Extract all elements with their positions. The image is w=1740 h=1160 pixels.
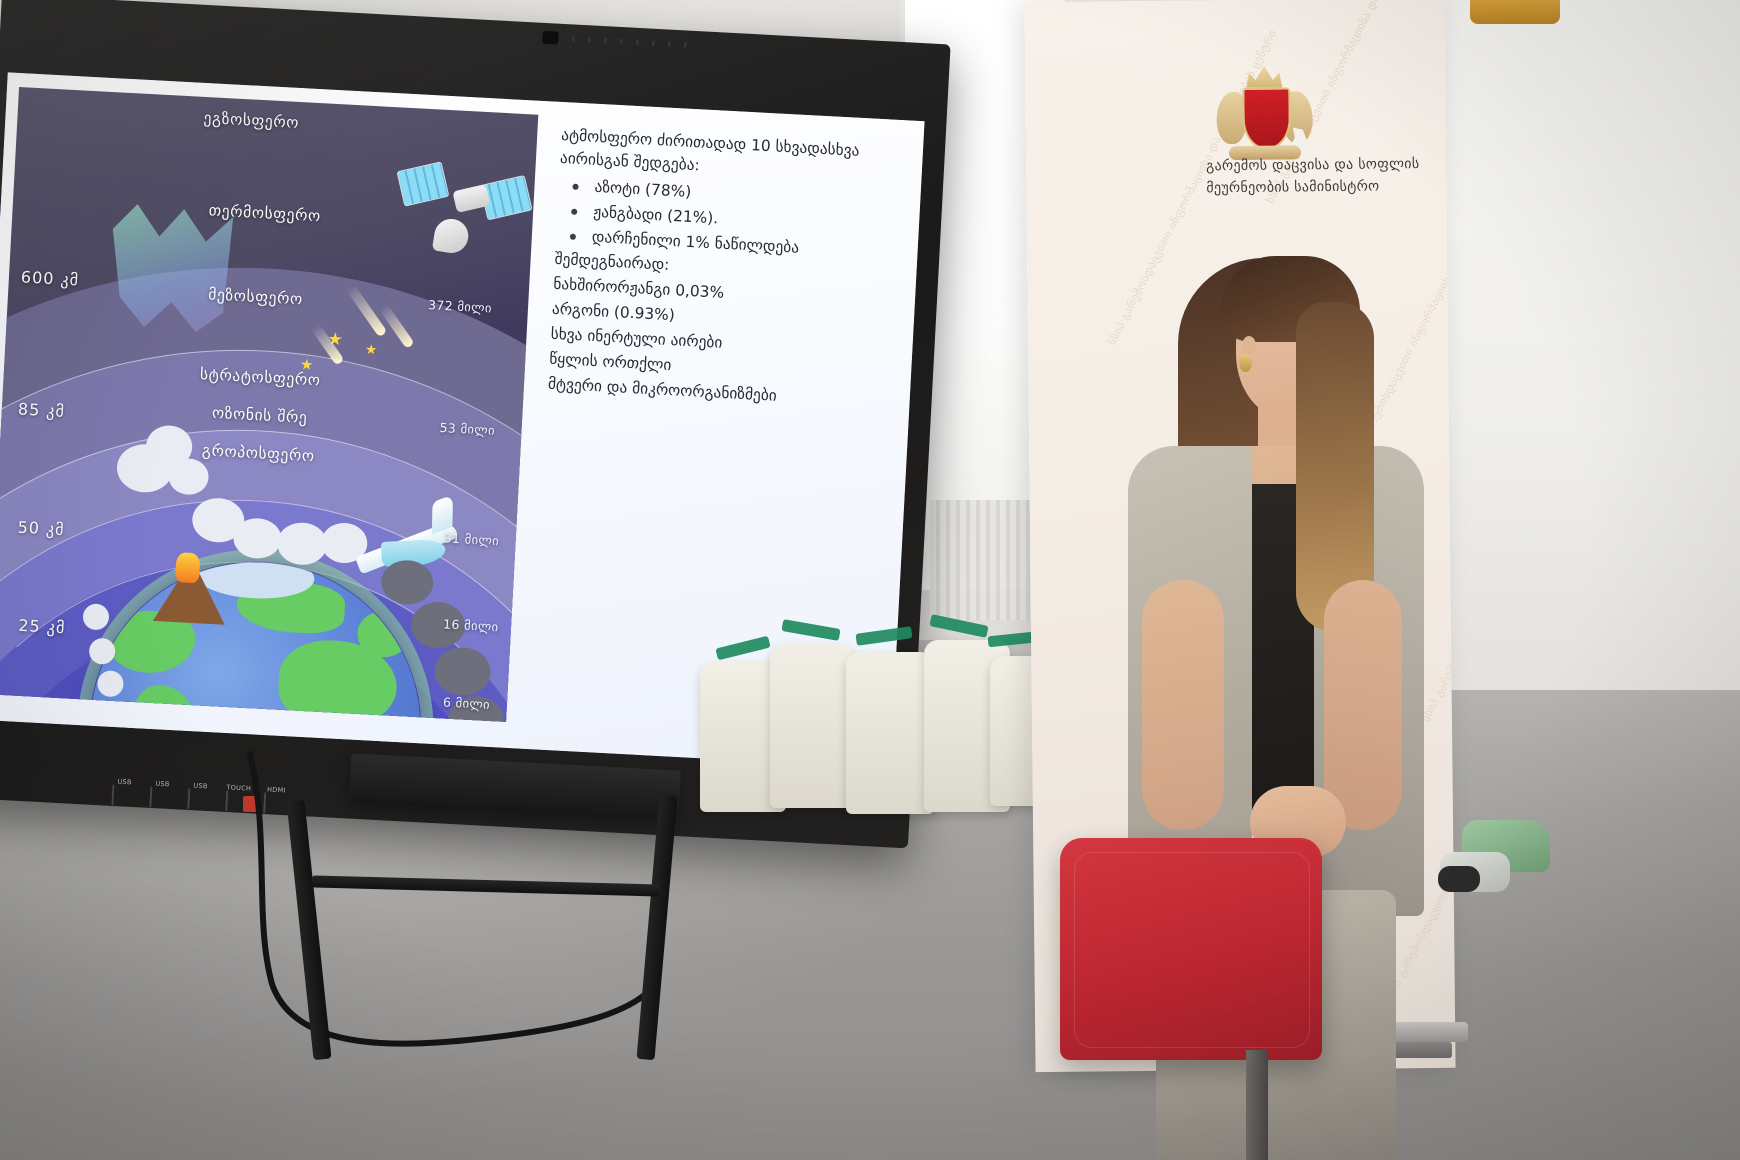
port-usb-3[interactable]: USB: [187, 781, 212, 809]
mile-label-31: 31 მილი: [443, 530, 499, 548]
port-socket: [187, 788, 190, 809]
crown-icon: [1246, 64, 1282, 88]
chair-post: [1246, 1050, 1268, 1160]
altitude-label-600km: 600 კმ: [20, 267, 79, 289]
port-label: USB: [188, 781, 212, 790]
earring-icon: [1239, 354, 1252, 372]
presenter-ear: [1242, 336, 1256, 356]
atmosphere-diagram: ეგზოსფერო თერმოსფერო მეზოსფერო სტრატოსფე…: [0, 87, 538, 722]
port-usb-2[interactable]: USB: [149, 779, 174, 807]
port-label: HDMI: [264, 785, 288, 794]
altitude-label-85km: 85 კმ: [17, 399, 65, 420]
tote-bag-pile: [700, 600, 1050, 830]
volcano-icon: [143, 535, 243, 626]
port-usb-1[interactable]: USB: [111, 777, 136, 805]
layer-label-exosphere: ეგზოსფერო: [203, 109, 299, 132]
port-label: TOUCH: [226, 783, 250, 792]
bag-handle: [929, 614, 988, 638]
camera-icon: [542, 31, 559, 45]
bag-handle: [781, 619, 840, 641]
room-scene: მოდით გავიხსენოთ ატმოსფერული ჰაერის შემა…: [0, 0, 1740, 1160]
banner-ministry-text: გარემოს დაცვისა და სოფლის მეურნეობის სამ…: [1206, 153, 1456, 199]
tote-bag: [846, 652, 934, 814]
mile-label-16: 16 მილი: [443, 616, 499, 634]
bag-handle: [855, 626, 912, 646]
right-wall: [1420, 0, 1740, 700]
altitude-label-25km: 25 კმ: [18, 616, 66, 637]
presenter-arm-right: [1324, 580, 1402, 830]
chair-seam: [1074, 852, 1310, 1048]
port-socket: [111, 784, 114, 805]
port-label: USB: [112, 777, 136, 786]
presenter-arm-left: [1142, 580, 1224, 830]
ceiling-object: [1470, 0, 1560, 24]
bag-handle: [988, 632, 1035, 648]
port-socket: [149, 786, 152, 807]
mile-label-6: 6 მილი: [443, 694, 491, 711]
floor-object-dark: [1438, 866, 1480, 892]
port-socket: [263, 792, 266, 813]
tote-bag: [770, 644, 854, 808]
altitude-label-50km: 50 კმ: [17, 518, 65, 539]
bag-handle: [715, 636, 770, 661]
shield-icon: [1242, 87, 1291, 149]
port-hdmi[interactable]: HDMI: [263, 785, 288, 813]
mile-label-53: 53 მილი: [439, 420, 495, 438]
port-label: USB: [150, 779, 174, 788]
satellite-icon: [395, 137, 537, 271]
ministry-line-2: მეურნეობის სამინისტრო: [1206, 175, 1455, 200]
layer-label-thermosphere: თერმოსფერო: [208, 201, 321, 225]
port-socket: [225, 790, 228, 811]
altitude-label-10km: 10 კმ: [19, 716, 67, 722]
hdmi-cable-connector: [243, 796, 257, 812]
ministry-line-1: გარემოს დაცვისა და სოფლის: [1206, 153, 1456, 178]
